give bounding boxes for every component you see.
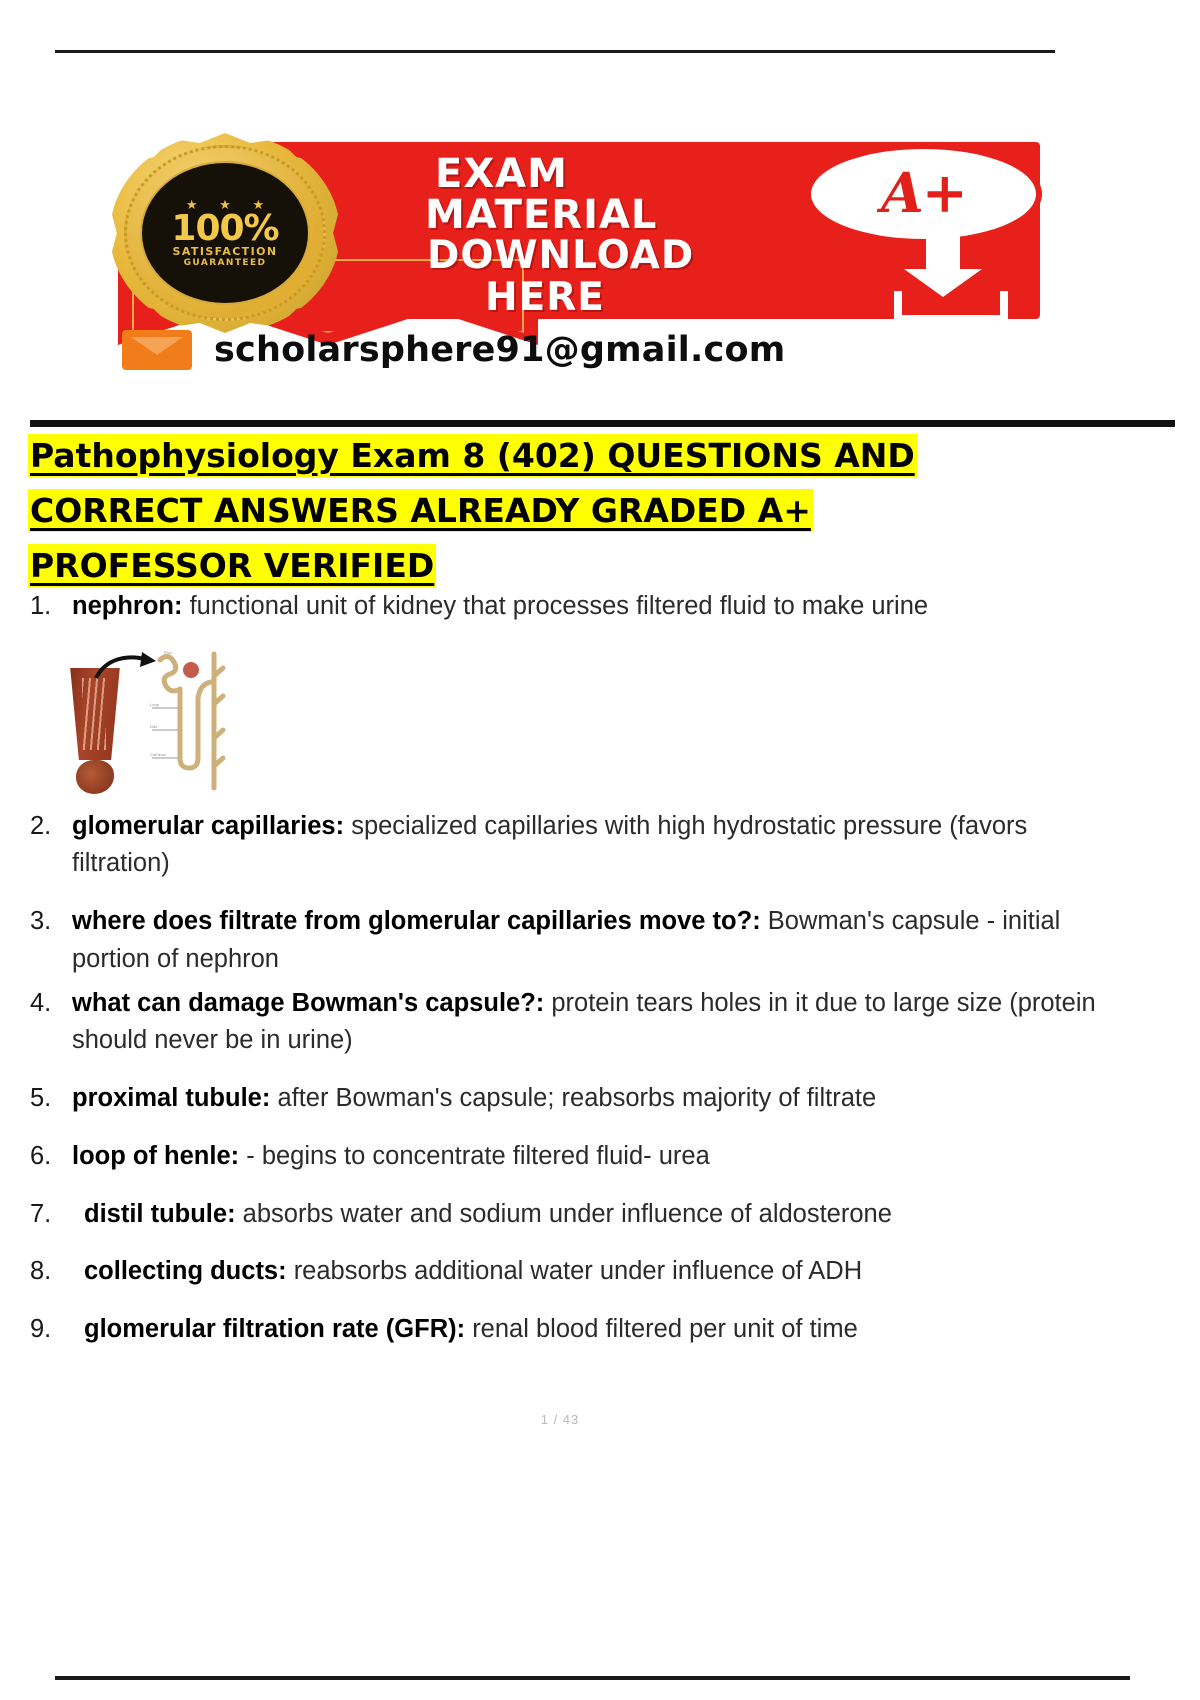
seal-center: ★ ★ ★ 100% SATISFACTION GUARANTEED: [140, 161, 310, 305]
qa-term: proximal tubule:: [72, 1084, 270, 1112]
qa-item: 4. what can damage Bowman's capsule?: pr…: [30, 985, 1100, 1060]
qa-number: 6.: [30, 1138, 72, 1176]
qa-body: collecting ducts: reabsorbs additional w…: [72, 1253, 1100, 1291]
page-title-line-3: PROFESSOR VERIFIED: [30, 546, 434, 585]
qa-definition: renal blood filtered per unit of time: [465, 1315, 858, 1343]
a-plus-badge: A+: [805, 143, 1042, 245]
qa-term: glomerular capillaries:: [72, 812, 344, 840]
qa-item: 9. glomerular filtration rate (GFR): ren…: [30, 1311, 1100, 1349]
qa-item: 5. proximal tubule: after Bowman's capsu…: [30, 1080, 1100, 1118]
qa-definition: absorbs water and sodium under influence…: [236, 1200, 892, 1228]
qa-number: 8.: [30, 1253, 72, 1291]
nephron-tubule-drawing: Prox Loop Dist Coll duct: [150, 646, 226, 796]
arrow-stem: [926, 235, 960, 271]
nephron-diagram-image: Prox Loop Dist Coll duct: [58, 636, 228, 801]
svg-text:Prox: Prox: [164, 650, 172, 655]
qa-item: 1. nephron: functional unit of kidney th…: [30, 588, 1100, 626]
qa-body: distil tubule: absorbs water and sodium …: [72, 1196, 1100, 1234]
satisfaction-seal-icon: ★ ★ ★ 100% SATISFACTION GUARANTEED: [110, 133, 340, 333]
qa-item: 2. glomerular capillaries: specialized c…: [30, 808, 1100, 883]
qa-body: where does filtrate from glomerular capi…: [72, 903, 1100, 978]
qa-number: 2.: [30, 808, 72, 846]
qa-number: 9.: [30, 1311, 72, 1349]
qa-definition: - begins to concentrate filtered fluid- …: [239, 1142, 710, 1170]
header-rule: [55, 50, 1055, 53]
qa-term: distil tubule:: [84, 1200, 236, 1228]
qa-item: 8. collecting ducts: reabsorbs additiona…: [30, 1253, 1100, 1291]
svg-text:Dist: Dist: [150, 724, 158, 729]
footer-rule: [55, 1676, 1130, 1680]
qa-definition: functional unit of kidney that processes…: [182, 592, 928, 620]
qa-item: 3. where does filtrate from glomerular c…: [30, 903, 1100, 978]
contact-email-row: scholarsphere91@gmail.com: [122, 330, 785, 370]
page-title-line-1: Pathophysiology Exam 8 (402) QUESTIONS A…: [30, 436, 915, 475]
svg-text:Coll duct: Coll duct: [150, 752, 166, 757]
document-page: ★ ★ ★ 100% SATISFACTION GUARANTEED EXAM …: [0, 0, 1200, 1700]
qa-term: where does filtrate from glomerular capi…: [72, 907, 761, 935]
qa-item: 6. loop of henle: - begins to concentrat…: [30, 1138, 1100, 1176]
seal-guaranteed-label: GUARANTEED: [184, 258, 267, 268]
renal-pelvis-shape: [76, 760, 114, 794]
download-arrow-icon: [890, 235, 1000, 317]
a-plus-label: A+: [881, 160, 966, 225]
qa-number: 4.: [30, 985, 72, 1023]
seal-satisfaction-label: SATISFACTION: [173, 246, 278, 258]
contact-email-text: scholarsphere91@gmail.com: [214, 330, 785, 370]
qa-number: 5.: [30, 1080, 72, 1118]
qa-body: loop of henle: - begins to concentrate f…: [72, 1138, 1100, 1176]
qa-body: what can damage Bowman's capsule?: prote…: [72, 985, 1100, 1060]
qa-number: 3.: [30, 903, 72, 941]
svg-text:Loop: Loop: [150, 702, 160, 707]
qa-body: glomerular capillaries: specialized capi…: [72, 808, 1100, 883]
qa-term: nephron:: [72, 592, 182, 620]
qa-term: what can damage Bowman's capsule?:: [72, 989, 544, 1017]
promo-banner: ★ ★ ★ 100% SATISFACTION GUARANTEED EXAM …: [100, 125, 1040, 375]
page-number: 1 / 43: [0, 1412, 1120, 1427]
qa-definition: reabsorbs additional water under influen…: [287, 1257, 863, 1285]
arrow-tray: [894, 291, 1008, 323]
banner-line-material: MATERIAL: [425, 192, 657, 238]
banner-line-download: DOWNLOAD: [427, 233, 694, 278]
page-title-line-2: CORRECT ANSWERS ALREADY GRADED A+: [30, 491, 811, 530]
banner-line-here: HERE: [485, 275, 605, 320]
banner-line-exam: EXAM: [435, 151, 568, 197]
seal-percent: 100%: [171, 212, 278, 247]
qa-body: glomerular filtration rate (GFR): renal …: [72, 1311, 1100, 1349]
qa-body: nephron: functional unit of kidney that …: [72, 588, 1100, 626]
qa-term: glomerular filtration rate (GFR):: [84, 1315, 465, 1343]
qa-definition: after Bowman's capsule; reabsorbs majori…: [270, 1084, 876, 1112]
qa-number: 7.: [30, 1196, 72, 1234]
qa-item: 7. distil tubule: absorbs water and sodi…: [30, 1196, 1100, 1234]
qa-body: proximal tubule: after Bowman's capsule;…: [72, 1080, 1100, 1118]
envelope-icon: [122, 330, 192, 370]
qa-term: loop of henle:: [72, 1142, 239, 1170]
page-title: Pathophysiology Exam 8 (402) QUESTIONS A…: [30, 428, 1040, 593]
qa-number: 1.: [30, 588, 72, 626]
qa-term: collecting ducts:: [84, 1257, 287, 1285]
banner-divider-rule: [30, 420, 1175, 427]
